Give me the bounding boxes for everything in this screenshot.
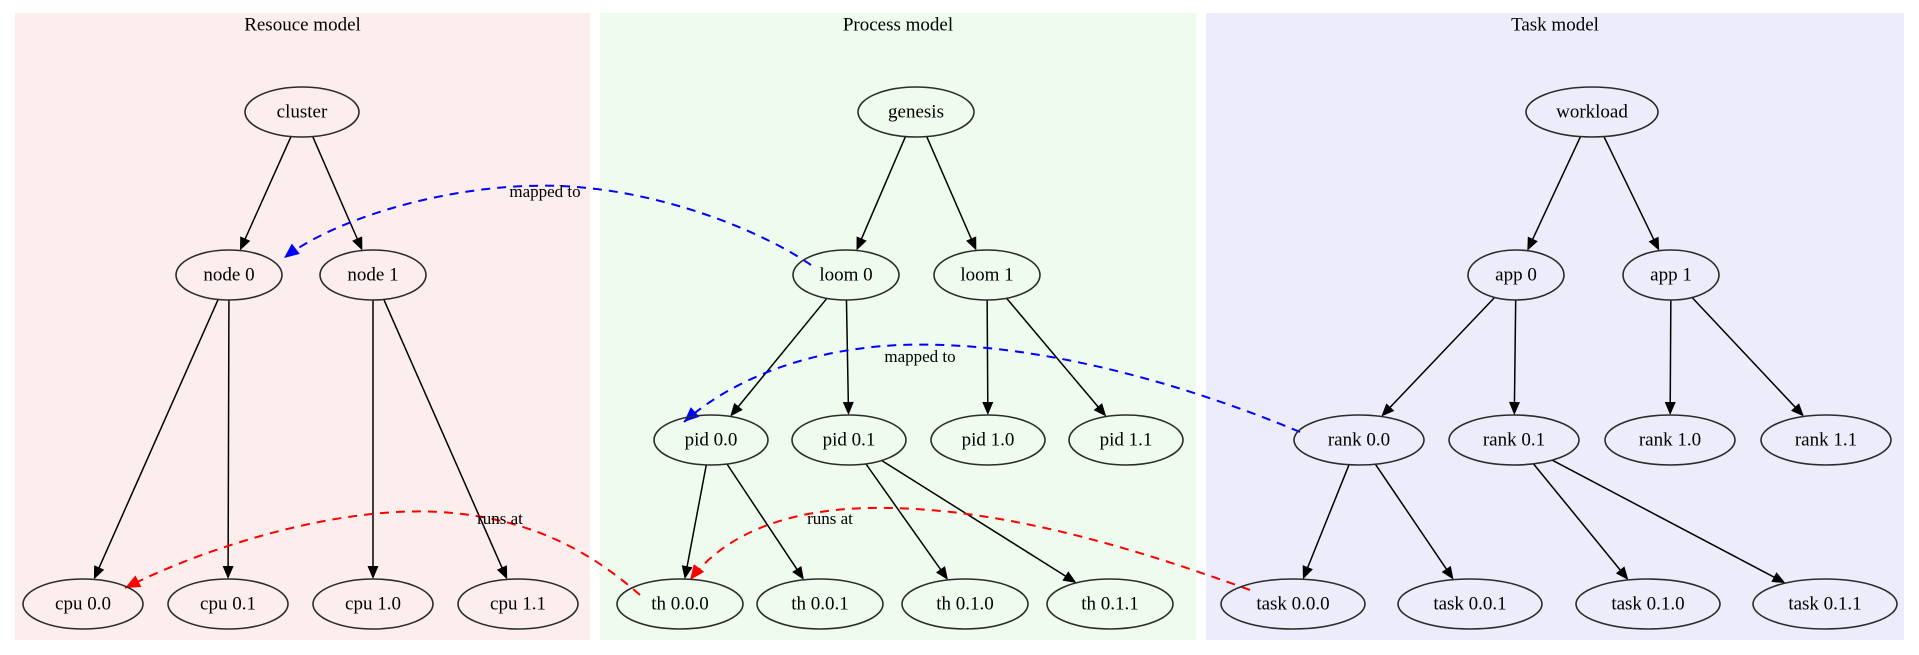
panel-title-task-model: Task model	[1511, 14, 1599, 35]
node-label-loom0: loom 0	[819, 264, 872, 285]
panel-title-process-model: Process model	[843, 14, 953, 35]
node-label-pid01: pid 0.1	[823, 429, 876, 450]
cross-edge-label-mapped-to-loom0-node0: mapped to	[509, 182, 580, 201]
node-label-cpu01: cpu 0.1	[200, 593, 256, 614]
cross-edge-label-runs-at-th000-cpu00: runs at	[477, 509, 523, 528]
node-label-pid10: pid 1.0	[962, 429, 1015, 450]
tree-edge-app1-to-rank10	[1670, 300, 1671, 406]
node-label-rank01: rank 0.1	[1483, 429, 1545, 450]
node-label-cpu10: cpu 1.0	[345, 593, 401, 614]
cross-edge-label-mapped-to-rank00-pid00: mapped to	[884, 347, 955, 366]
node-label-pid11: pid 1.1	[1100, 429, 1153, 450]
node-label-th011: th 0.1.1	[1081, 593, 1139, 614]
node-label-workload: workload	[1556, 101, 1628, 122]
cross-edge-label-runs-at-task000-th000: runs at	[807, 509, 853, 528]
diagram-root: clusternode 0node 1cpu 0.0cpu 0.1cpu 1.0…	[0, 0, 1919, 655]
graph-canvas: clusternode 0node 1cpu 0.0cpu 0.1cpu 1.0…	[0, 0, 1919, 655]
node-label-task010: task 0.1.0	[1611, 593, 1684, 614]
node-label-rank00: rank 0.0	[1328, 429, 1390, 450]
node-label-th000: th 0.0.0	[651, 593, 709, 614]
node-label-task001: task 0.0.1	[1433, 593, 1506, 614]
node-label-node1: node 1	[347, 264, 398, 285]
node-label-rank11: rank 1.1	[1795, 429, 1857, 450]
panel-task-model	[1206, 13, 1904, 640]
node-label-task000: task 0.0.0	[1256, 593, 1329, 614]
node-label-loom1: loom 1	[960, 264, 1013, 285]
node-label-genesis: genesis	[888, 101, 944, 122]
node-label-th010: th 0.1.0	[936, 593, 994, 614]
node-label-pid00: pid 0.0	[685, 429, 738, 450]
node-label-node0: node 0	[203, 264, 254, 285]
node-label-th001: th 0.0.1	[791, 593, 849, 614]
node-label-cpu11: cpu 1.1	[490, 593, 546, 614]
node-label-app0: app 0	[1495, 264, 1537, 285]
node-label-app1: app 1	[1650, 264, 1692, 285]
node-label-cluster: cluster	[277, 101, 328, 122]
tree-edge-loom1-to-pid10	[987, 300, 988, 406]
tree-edge-node0-to-cpu01	[228, 300, 229, 570]
panel-title-resource-model: Resouce model	[244, 14, 361, 35]
node-label-cpu00: cpu 0.0	[55, 593, 111, 614]
node-label-rank10: rank 1.0	[1639, 429, 1701, 450]
node-label-task011: task 0.1.1	[1788, 593, 1861, 614]
